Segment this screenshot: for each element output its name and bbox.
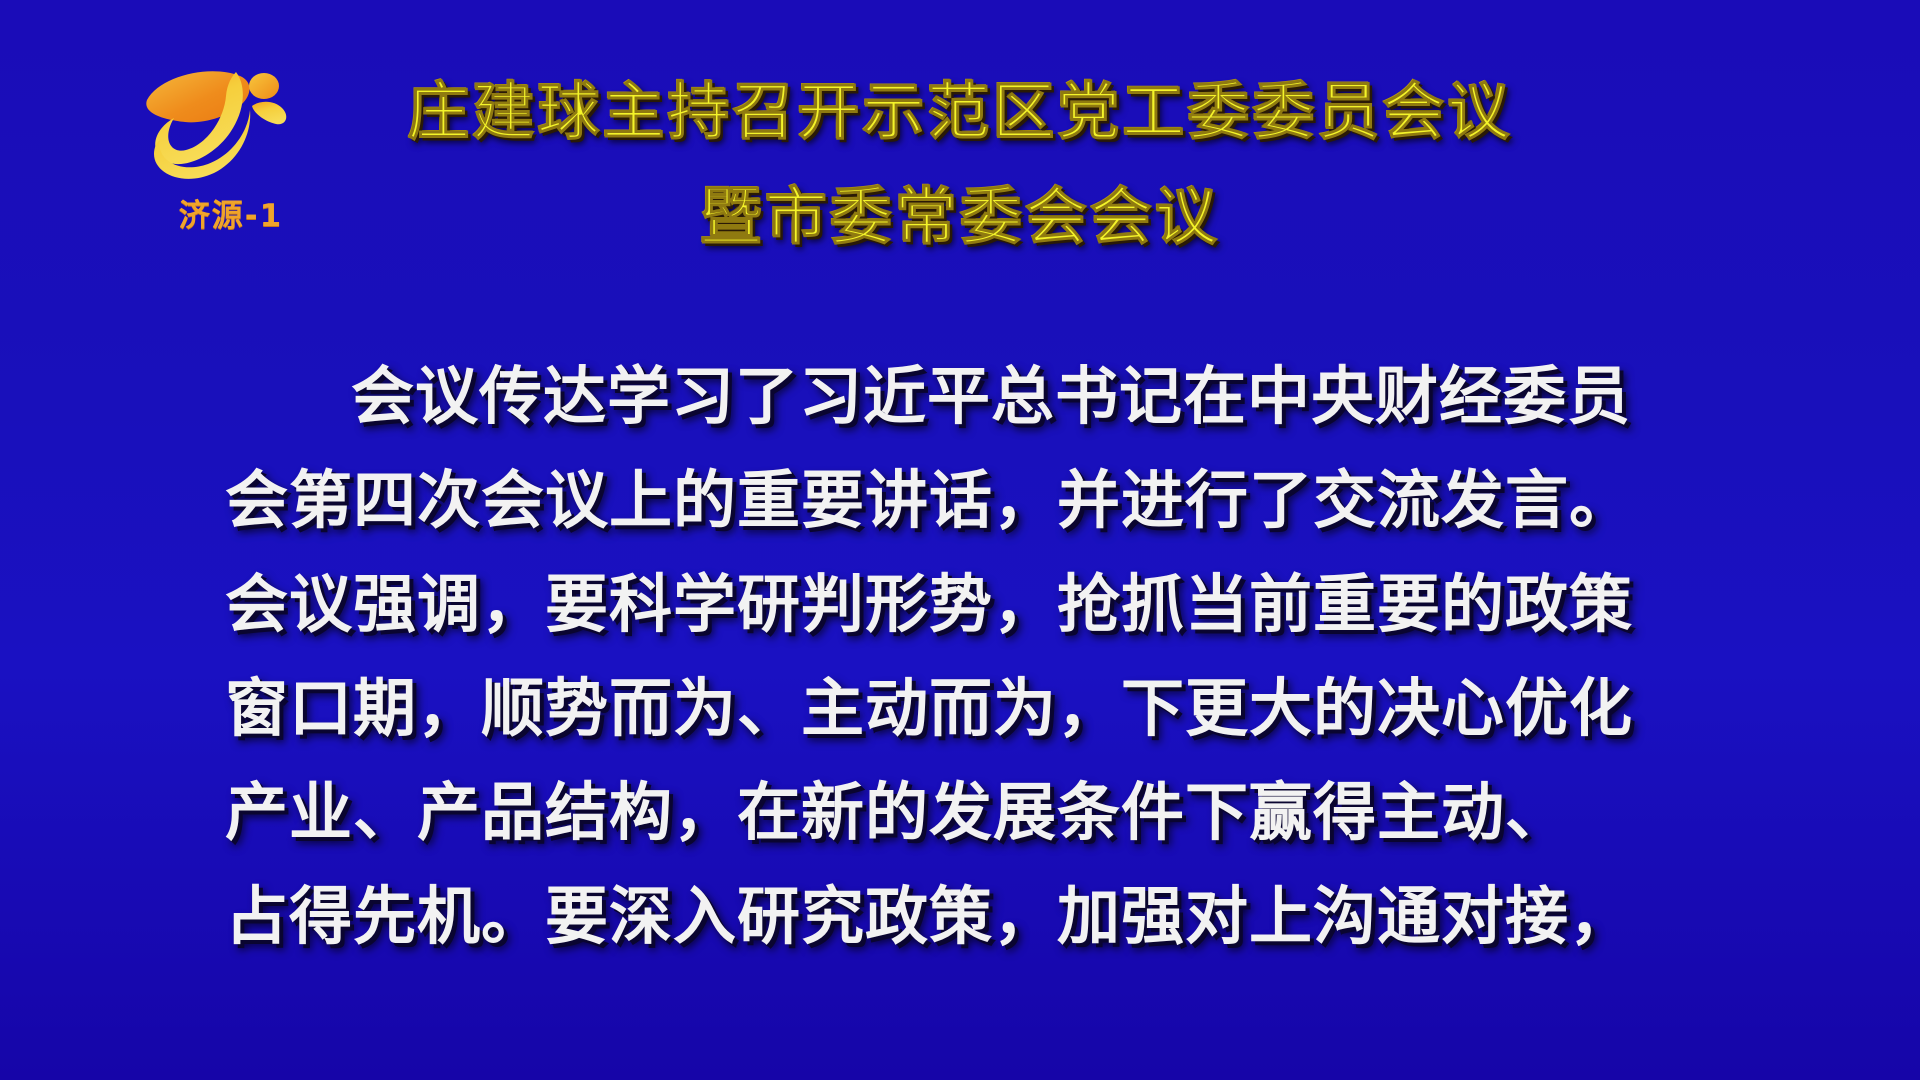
headline-line-1: 庄建球主持召开示范区党工委委员会议	[0, 80, 1920, 143]
news-body-text: 会议传达学习了习近平总书记在中央财经委员 会第四次会议上的重要讲话，并进行了交流…	[225, 345, 1720, 969]
body-line: 会议传达学习了习近平总书记在中央财经委员	[225, 345, 1720, 449]
body-line: 窗口期，顺势而为、主动而为，下更大的决心优化	[225, 657, 1720, 761]
body-line: 产业、产品结构，在新的发展条件下赢得主动、	[225, 761, 1720, 865]
body-line: 占得先机。要深入研究政策，加强对上沟通对接，	[225, 865, 1720, 969]
body-line: 会第四次会议上的重要讲话，并进行了交流发言。	[225, 449, 1720, 553]
body-line: 会议强调，要科学研判形势，抢抓当前重要的政策	[225, 553, 1720, 657]
headline-line-2: 暨市委常委会会议	[0, 185, 1920, 248]
broadcast-news-screen: 济源-1 庄建球主持召开示范区党工委委员会议 暨市委常委会会议 会议传达学习了习…	[0, 0, 1920, 1080]
lower-safe-area	[0, 975, 1920, 1080]
header-band: 济源-1 庄建球主持召开示范区党工委委员会议 暨市委常委会会议	[0, 0, 1920, 290]
